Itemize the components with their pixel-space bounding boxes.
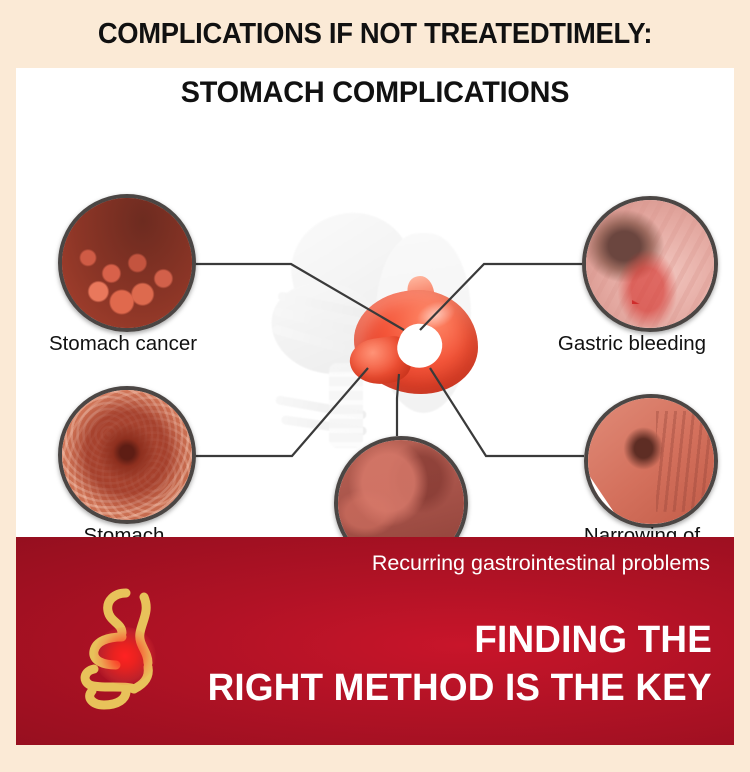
gastric-bleeding-image[interactable] <box>582 196 718 332</box>
pylorus-narrowing-label: Narrowing of the pylorus <box>552 524 732 537</box>
banner-subtitle: Recurring gastrointestinal problems <box>372 551 710 576</box>
stomach-perforation-image[interactable] <box>58 386 196 524</box>
diagram-panel: STOMACH COMPLICATIONS <box>16 68 734 537</box>
gastric-bleeding-label: Gastric bleeding <box>532 332 732 355</box>
pylorus-narrowing-image[interactable] <box>584 394 718 528</box>
cta-banner: Recurring gastrointestinal problems FIND… <box>16 537 734 745</box>
chronic-gastritis-image[interactable] <box>334 436 468 537</box>
pain-glow-indicator <box>94 627 156 685</box>
page-title: COMPLICATIONS IF NOT TREATEDTIMELY: <box>15 0 735 68</box>
stomach-cancer-label: Stomach cancer <box>28 332 218 355</box>
infographic-poster: COMPLICATIONS IF NOT TREATEDTIMELY: STOM… <box>0 0 750 772</box>
banner-headline-line2: RIGHT METHOD IS THE KEY <box>208 667 712 710</box>
stomach-perforation-label: Stomach Perforation <box>36 524 212 537</box>
intestine-pain-icon <box>64 585 194 715</box>
stomach-cancer-image[interactable] <box>58 194 196 332</box>
banner-headline-line1: FINDING THE <box>474 619 712 662</box>
